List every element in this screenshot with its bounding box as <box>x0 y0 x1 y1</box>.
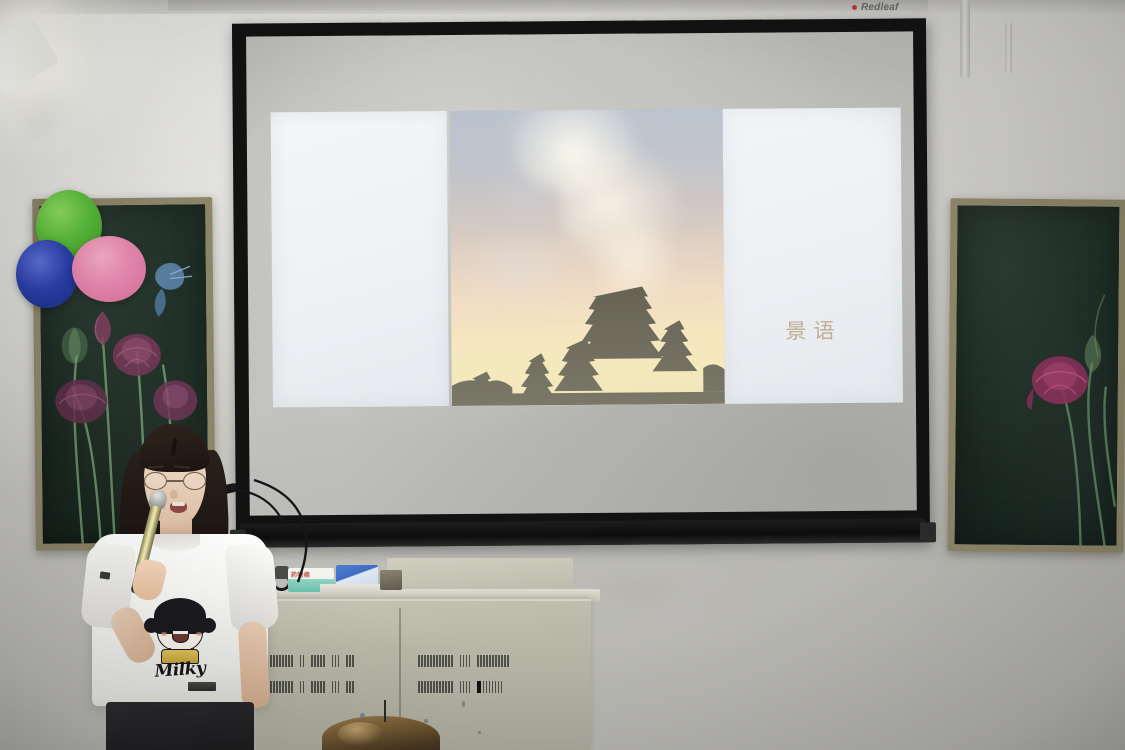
wall-stain <box>600 580 670 600</box>
nose <box>170 490 178 499</box>
cabinet-vent-row <box>270 655 354 667</box>
graphic-cheek-left <box>161 632 167 636</box>
dark-object[interactable] <box>380 570 402 590</box>
dark-skirt <box>106 702 254 750</box>
glasses-lens-right <box>183 472 206 490</box>
audience-hair-highlight <box>338 722 384 746</box>
brand-label-text: Redleaf <box>861 2 899 13</box>
treeline-silhouette <box>451 280 725 406</box>
arm-right <box>238 621 270 708</box>
balloon-blue <box>16 240 78 308</box>
podium-riser <box>387 558 573 592</box>
tshirt-collar <box>152 534 200 551</box>
projector-screen-surface: 景语 <box>246 31 917 515</box>
teeth <box>172 502 185 506</box>
slide-panel-left <box>271 111 449 407</box>
tshirt-graphic: Milky <box>144 598 216 678</box>
cabinet-speck <box>462 701 465 707</box>
balloon-pink <box>72 236 146 302</box>
projected-slide: 景语 <box>271 107 903 407</box>
ceiling-beam <box>168 0 928 11</box>
cabinet-vent-row <box>418 681 502 693</box>
wall-pipe <box>960 0 970 78</box>
graphic-eye-right <box>190 624 194 629</box>
student-presenter: Milky <box>78 420 278 750</box>
slide-photo-sunset <box>450 109 725 406</box>
screen-bracket-right <box>920 522 936 542</box>
graphic-teeth <box>173 631 188 634</box>
slide-caption-text: 景语 <box>724 314 902 345</box>
graphic-cheek-right <box>196 632 202 636</box>
brand-dot-icon <box>852 5 857 10</box>
graphic-hair <box>154 598 206 634</box>
glasses-lens-left <box>144 472 167 490</box>
thin-pole <box>384 700 386 722</box>
projector-screen[interactable]: 景语 <box>232 18 930 547</box>
wall-stain <box>8 96 64 118</box>
slide-panel-right: 景语 <box>723 107 903 403</box>
cabinet-vent-row <box>418 655 509 667</box>
cabinet-speck <box>478 731 481 734</box>
blackboard-right <box>947 198 1125 553</box>
screen-brand-label: Redleaf <box>852 2 899 13</box>
wall-pipe-secondary <box>1005 22 1012 74</box>
graphic-eye-left <box>168 624 172 629</box>
glasses-bridge <box>167 480 183 482</box>
tshirt-hem-tag <box>188 682 216 691</box>
cabinet-vent-row <box>270 681 354 693</box>
classroom-scene: Redleaf <box>0 0 1125 750</box>
tshirt-sleeve-right <box>224 542 279 632</box>
sleeve-tag <box>100 571 111 579</box>
chalk-art-lotus-right <box>955 205 1120 545</box>
wall-stain <box>22 118 56 134</box>
